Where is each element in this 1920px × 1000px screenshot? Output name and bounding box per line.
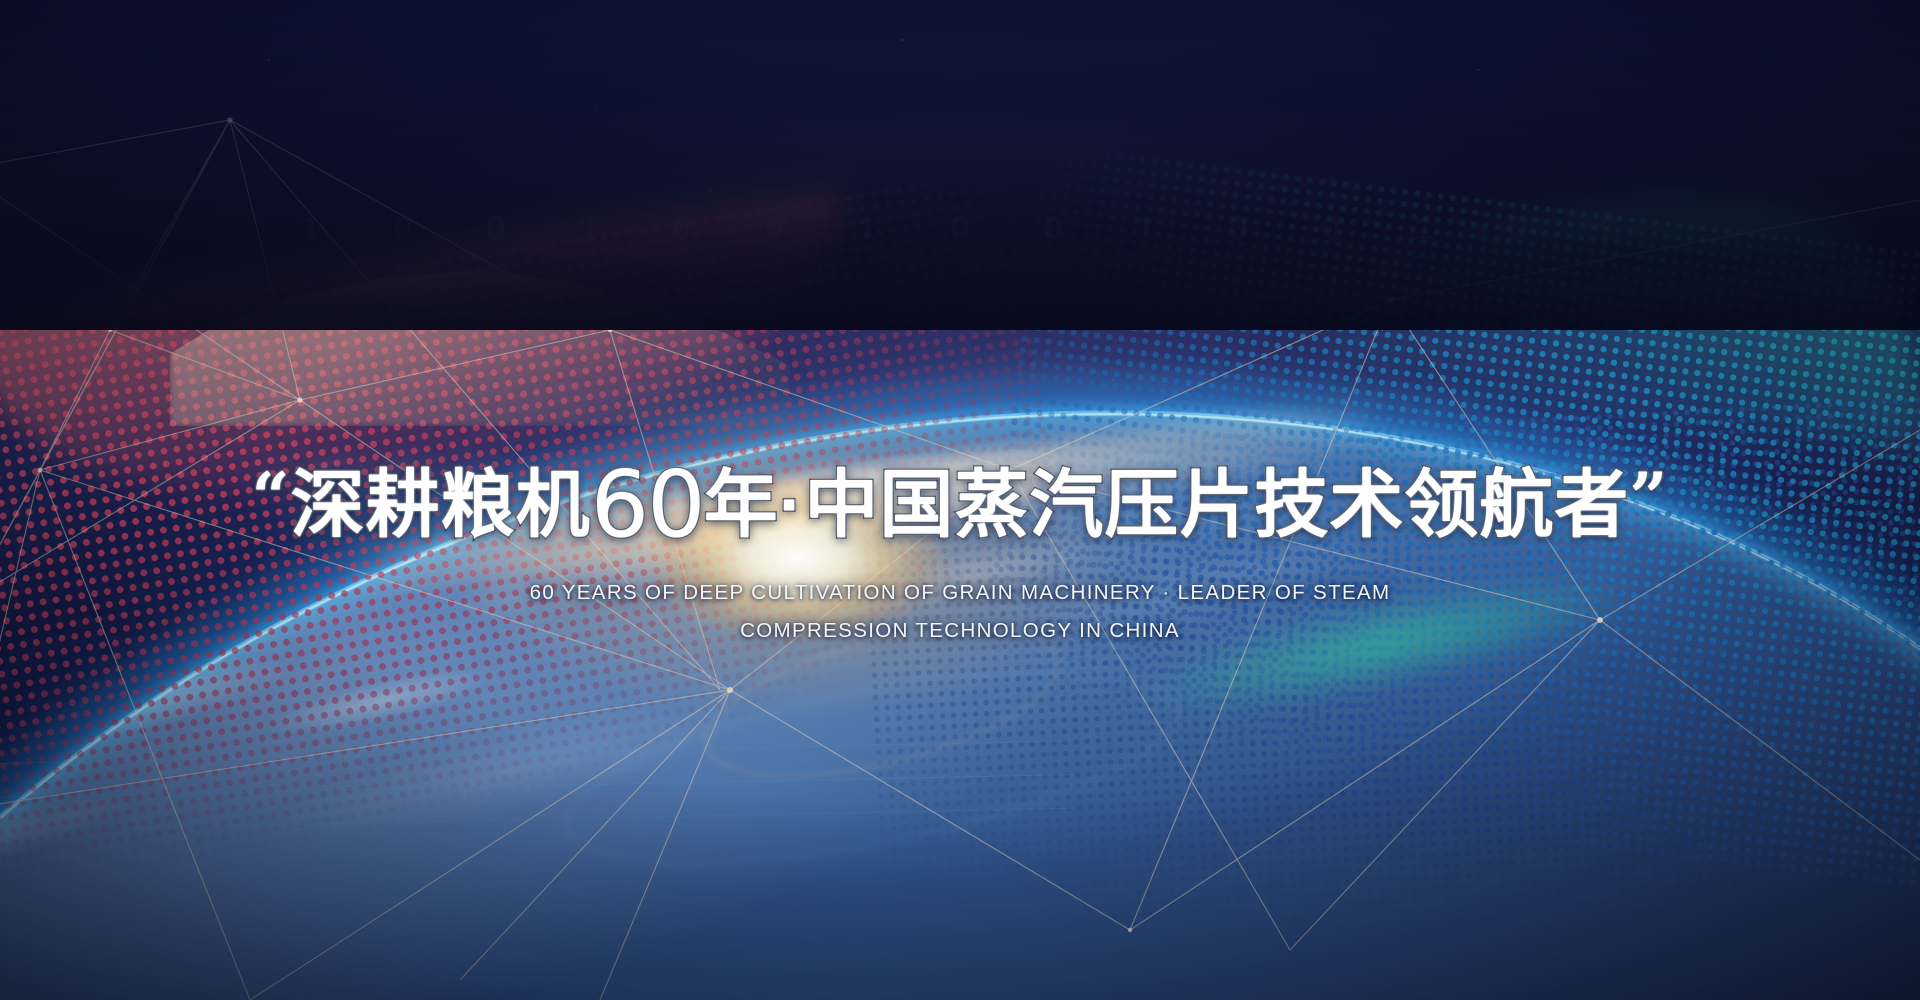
subtitle-line-2: COMPRESSION TECHNOLOGY IN CHINA bbox=[0, 619, 1920, 643]
binary-code-icon: 1 0 0 1 0 0 1 0 0 1 0 0 1 0 1 0 0 1 0 1 … bbox=[300, 212, 1630, 250]
title-part-one: 深耕粮机 bbox=[291, 463, 591, 546]
banner-text-block: “深耕粮机60年·中国蒸汽压片技术领航者” 60 YEARS OF DEEP C… bbox=[0, 455, 1920, 643]
open-quote-mark: “ bbox=[252, 458, 291, 536]
subtitle-line-1: 60 YEARS OF DEEP CULTIVATION OF GRAIN MA… bbox=[0, 581, 1920, 605]
ground-scan-lines bbox=[0, 719, 1075, 862]
title-anniversary-number: 60 bbox=[591, 451, 704, 558]
title-part-two: 年·中国蒸汽压片技术领航者 bbox=[704, 463, 1630, 546]
page-title: “深耕粮机60年·中国蒸汽压片技术领航者” bbox=[0, 455, 1920, 554]
hero-banner: 1 0 0 1 0 0 1 0 0 1 0 0 1 0 1 0 0 1 0 1 … bbox=[0, 0, 1920, 1000]
close-quote-mark: ” bbox=[1629, 458, 1668, 536]
